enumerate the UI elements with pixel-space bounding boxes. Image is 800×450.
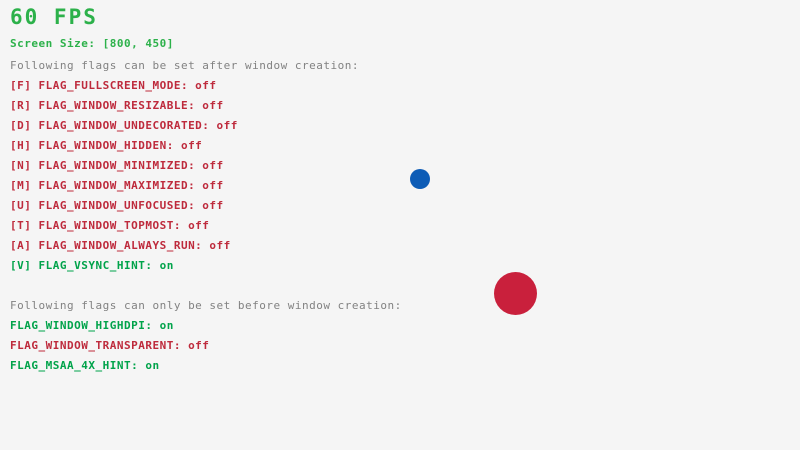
raylib-window-canvas[interactable]: 60 FPS Screen Size: [800, 450] Following…	[0, 0, 800, 450]
flag-row-window-maximized[interactable]: [M] FLAG_WINDOW_MAXIMIZED: off	[10, 180, 224, 191]
flag-row-vsync-hint[interactable]: [V] FLAG_VSYNC_HINT: on	[10, 260, 174, 271]
flag-row-window-minimized[interactable]: [N] FLAG_WINDOW_MINIMIZED: off	[10, 160, 224, 171]
flag-row-window-unfocused[interactable]: [U] FLAG_WINDOW_UNFOCUSED: off	[10, 200, 224, 211]
blue-circle	[410, 169, 430, 189]
flag-row-msaa-4x-hint: FLAG_MSAA_4X_HINT: on	[10, 360, 160, 371]
screen-size-label: Screen Size: [800, 450]	[10, 38, 174, 49]
flag-row-window-transparent: FLAG_WINDOW_TRANSPARENT: off	[10, 340, 209, 351]
flag-row-window-resizable[interactable]: [R] FLAG_WINDOW_RESIZABLE: off	[10, 100, 224, 111]
flag-row-window-topmost[interactable]: [T] FLAG_WINDOW_TOPMOST: off	[10, 220, 209, 231]
red-circle	[494, 272, 537, 315]
flag-row-fullscreen-mode[interactable]: [F] FLAG_FULLSCREEN_MODE: off	[10, 80, 217, 91]
flag-row-window-hidden[interactable]: [H] FLAG_WINDOW_HIDDEN: off	[10, 140, 202, 151]
flag-row-window-highdpi: FLAG_WINDOW_HIGHDPI: on	[10, 320, 174, 331]
fps-counter: 60 FPS	[10, 7, 98, 28]
section-header-after-creation: Following flags can be set after window …	[10, 60, 359, 71]
flag-row-window-undecorated[interactable]: [D] FLAG_WINDOW_UNDECORATED: off	[10, 120, 238, 131]
section-header-before-creation: Following flags can only be set before w…	[10, 300, 402, 311]
flag-row-window-always-run[interactable]: [A] FLAG_WINDOW_ALWAYS_RUN: off	[10, 240, 231, 251]
